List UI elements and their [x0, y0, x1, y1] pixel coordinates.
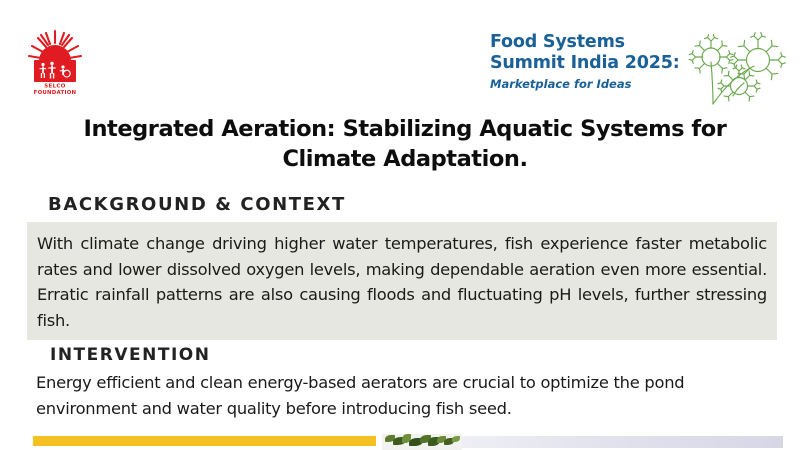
- dandelion-plant-icon: [686, 26, 790, 106]
- intervention-text: Energy efficient and clean energy-based …: [36, 370, 766, 422]
- section-heading-background: BACKGROUND & CONTEXT: [48, 194, 346, 215]
- background-context-box: With climate change driving higher water…: [27, 222, 777, 340]
- summit-title-line2: Summit India 2025:: [490, 53, 680, 74]
- summit-tagline: Marketplace for Ideas: [490, 77, 680, 91]
- section-heading-intervention: INTERVENTION: [50, 345, 210, 365]
- footer-accent-bar: [33, 436, 376, 446]
- page-title: Integrated Aeration: Stabilizing Aquatic…: [50, 114, 760, 174]
- summit-title-line1: Food Systems: [490, 32, 680, 53]
- slide-canvas: SELCO FOUNDATION Food Systems Summit Ind…: [0, 0, 800, 450]
- selco-wordmark-line2: FOUNDATION: [34, 90, 77, 96]
- pond-greenery-photo: [382, 434, 462, 450]
- background-context-text: With climate change driving higher water…: [27, 222, 777, 333]
- selco-foundation-logo: SELCO FOUNDATION: [22, 25, 88, 97]
- footer-lavender-bar: [462, 436, 783, 448]
- selco-wordmark-line1: SELCO: [44, 84, 66, 90]
- summit-logo: Food Systems Summit India 2025: Marketpl…: [490, 32, 680, 91]
